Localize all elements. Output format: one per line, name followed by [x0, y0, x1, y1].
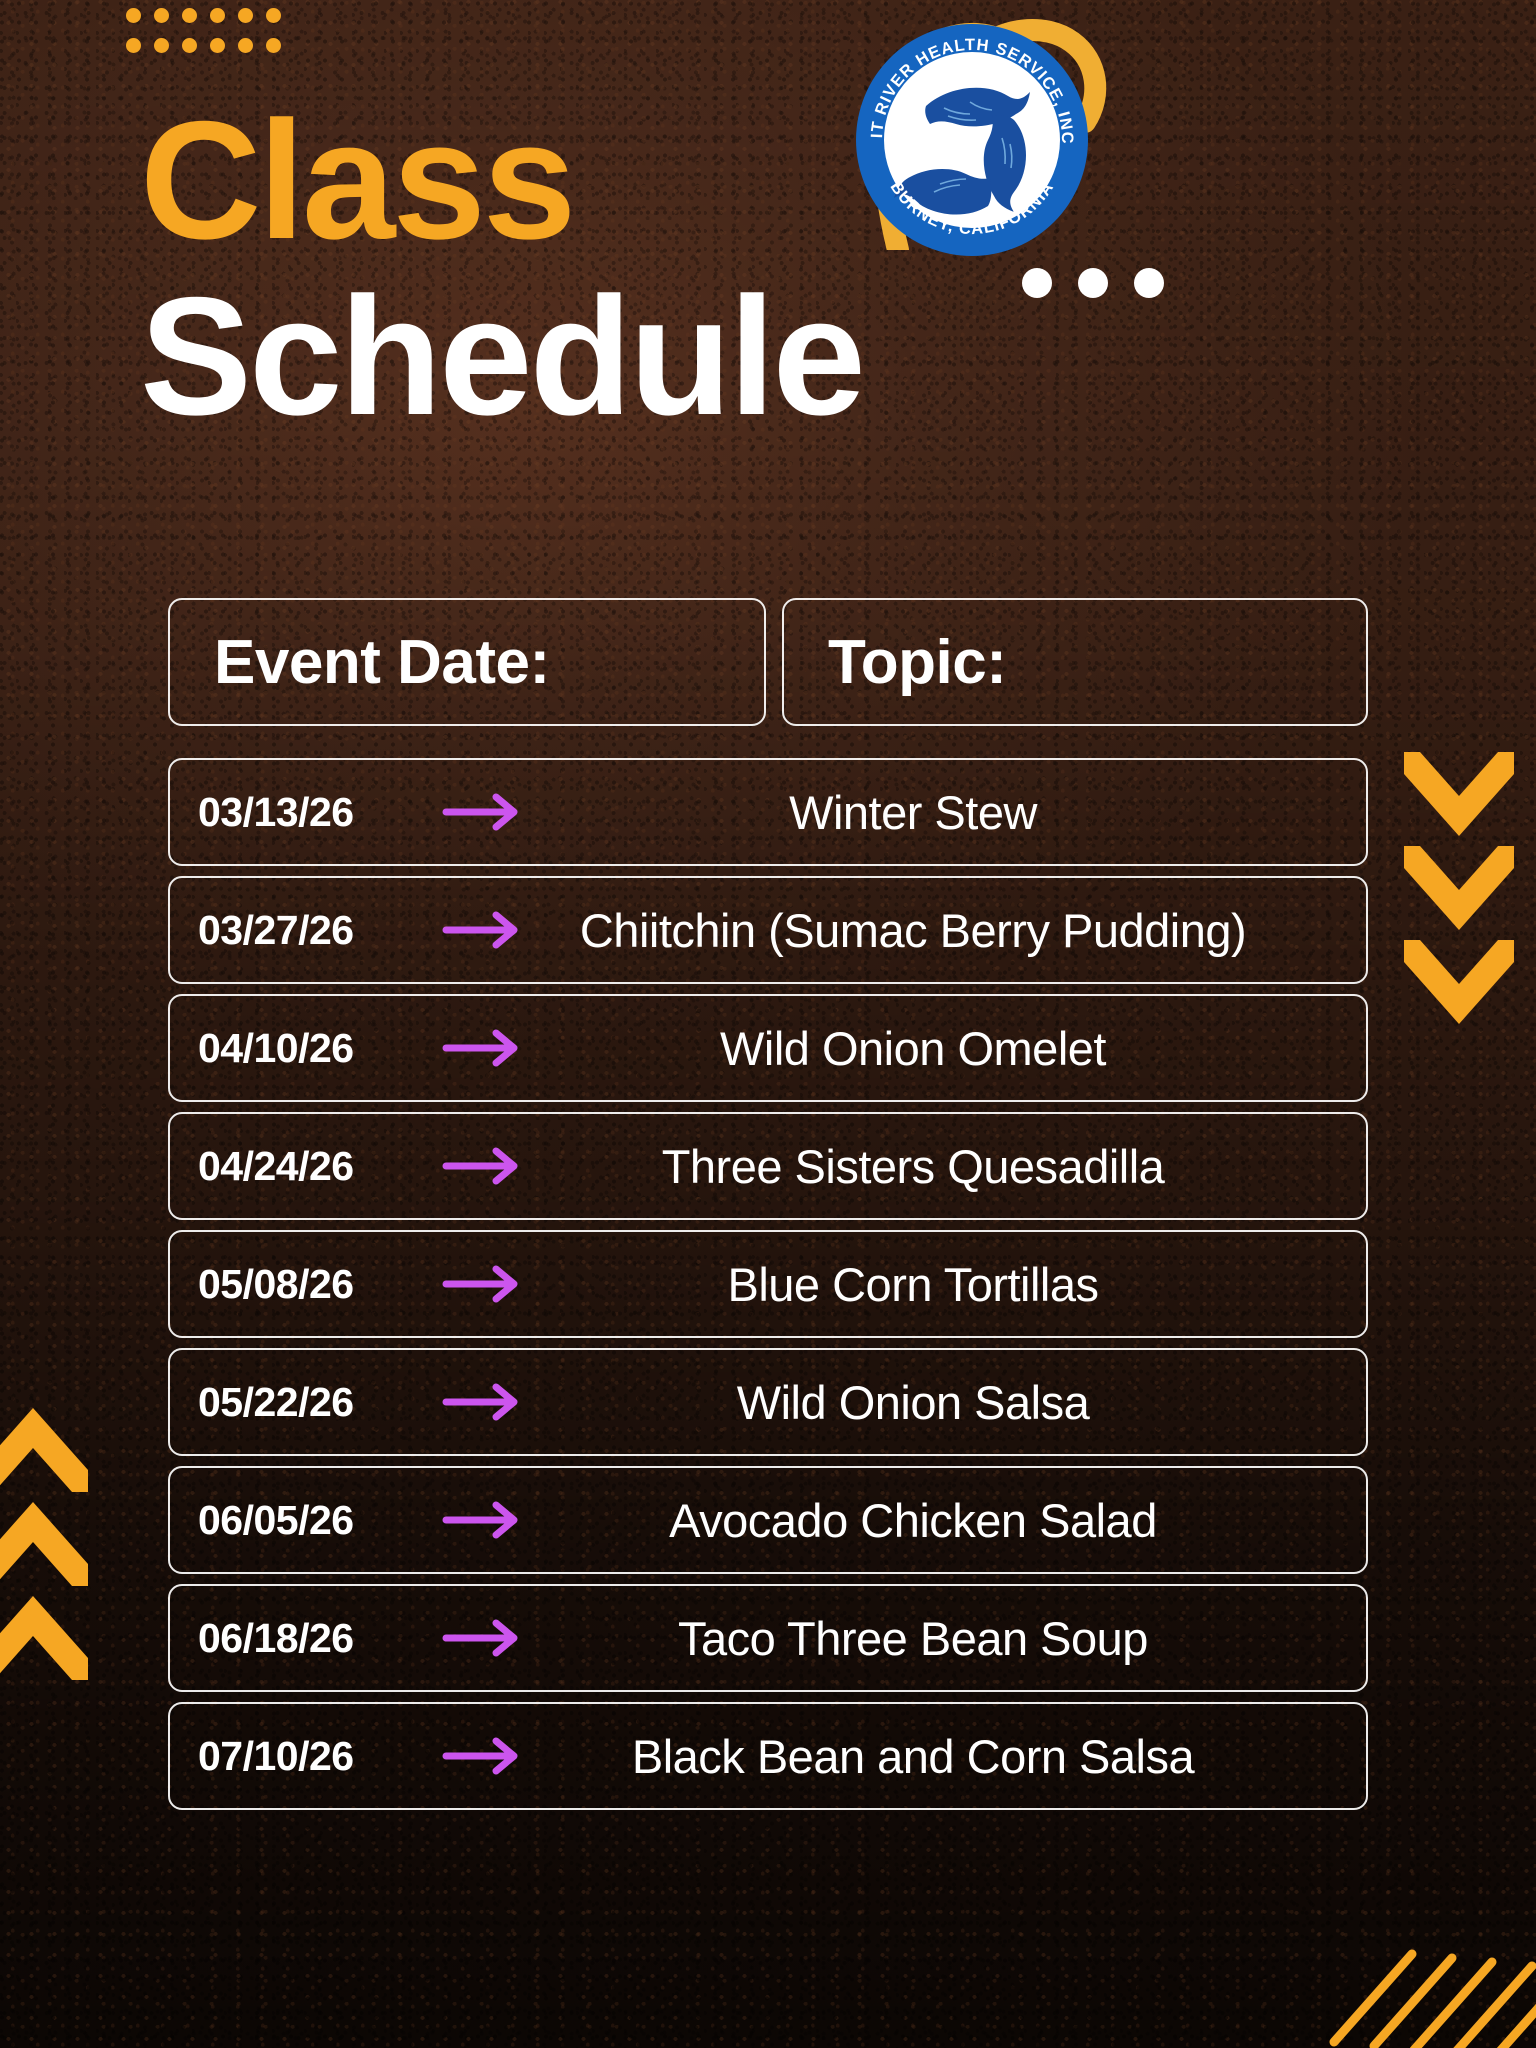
row-topic: Wild Onion Omelet	[528, 1021, 1338, 1076]
chevron-down-icon	[1404, 940, 1514, 1024]
row-event-date: 03/27/26	[198, 907, 438, 954]
table-body: 03/13/26 Winter Stew 03/27/26 Chiitchin …	[168, 758, 1368, 1810]
row-topic: Winter Stew	[528, 785, 1338, 840]
diagonal-lines-decoration	[1326, 1938, 1536, 2048]
grid-dot	[126, 8, 141, 23]
page-title-line2: Schedule	[140, 272, 863, 440]
grid-dot	[238, 38, 253, 53]
pit-river-health-service-logo: PIT RIVER HEALTH SERVICE, INC. BURNEY, C…	[852, 20, 1092, 260]
grid-dot	[154, 38, 169, 53]
row-event-date: 04/10/26	[198, 1025, 438, 1072]
column-header-topic-label: Topic:	[828, 627, 1006, 698]
dot-grid-decoration	[126, 8, 294, 68]
chevron-down-icon	[1404, 752, 1514, 836]
column-header-topic: Topic:	[782, 598, 1368, 726]
row-event-date: 05/22/26	[198, 1379, 438, 1426]
chevron-up-icon	[0, 1596, 88, 1680]
row-topic: Black Bean and Corn Salsa	[528, 1729, 1338, 1784]
grid-dot	[210, 8, 225, 23]
arrow-right-icon	[442, 1736, 528, 1776]
ellipsis-dots-decoration	[1022, 268, 1164, 298]
row-event-date: 06/18/26	[198, 1615, 438, 1662]
chevron-down-decoration	[1404, 752, 1514, 1024]
poster-canvas: PIT RIVER HEALTH SERVICE, INC. BURNEY, C…	[0, 0, 1536, 2048]
grid-dot	[182, 38, 197, 53]
table-row: 05/22/26 Wild Onion Salsa	[168, 1348, 1368, 1456]
row-topic: Three Sisters Quesadilla	[528, 1139, 1338, 1194]
chevron-down-icon	[1404, 846, 1514, 930]
grid-dot	[266, 8, 281, 23]
table-row: 05/08/26 Blue Corn Tortillas	[168, 1230, 1368, 1338]
arrow-right-icon	[442, 1028, 528, 1068]
arrow-right-icon	[442, 1264, 528, 1304]
row-event-date: 03/13/26	[198, 789, 438, 836]
arrow-right-icon	[442, 1500, 528, 1540]
arrow-right-icon	[442, 910, 528, 950]
chevron-up-decoration	[0, 1408, 88, 1680]
column-header-event-date-label: Event Date:	[214, 627, 550, 698]
row-topic: Wild Onion Salsa	[528, 1375, 1338, 1430]
table-row: 04/24/26 Three Sisters Quesadilla	[168, 1112, 1368, 1220]
arrow-right-icon	[442, 1618, 528, 1658]
table-row: 03/13/26 Winter Stew	[168, 758, 1368, 866]
page-title-line1: Class	[140, 96, 573, 264]
arrow-right-icon	[442, 792, 528, 832]
row-event-date: 06/05/26	[198, 1497, 438, 1544]
table-row: 07/10/26 Black Bean and Corn Salsa	[168, 1702, 1368, 1810]
column-header-event-date: Event Date:	[168, 598, 766, 726]
ellipsis-dot	[1022, 268, 1052, 298]
row-topic: Chiitchin (Sumac Berry Pudding)	[528, 903, 1338, 958]
chevron-up-icon	[0, 1502, 88, 1586]
row-topic: Avocado Chicken Salad	[528, 1493, 1338, 1548]
grid-dot	[210, 38, 225, 53]
table-row: 03/27/26 Chiitchin (Sumac Berry Pudding)	[168, 876, 1368, 984]
row-event-date: 04/24/26	[198, 1143, 438, 1190]
table-row: 06/05/26 Avocado Chicken Salad	[168, 1466, 1368, 1574]
ellipsis-dot	[1078, 268, 1108, 298]
table-header-row: Event Date: Topic:	[168, 598, 1368, 726]
grid-dot	[126, 38, 141, 53]
grid-dot	[182, 8, 197, 23]
class-schedule-table: Event Date: Topic: 03/13/26 Winter Stew …	[168, 598, 1368, 1820]
table-row: 06/18/26 Taco Three Bean Soup	[168, 1584, 1368, 1692]
arrow-right-icon	[442, 1382, 528, 1422]
row-event-date: 07/10/26	[198, 1733, 438, 1780]
ellipsis-dot	[1134, 268, 1164, 298]
arrow-right-icon	[442, 1146, 528, 1186]
grid-dot	[154, 8, 169, 23]
grid-dot	[266, 38, 281, 53]
table-row: 04/10/26 Wild Onion Omelet	[168, 994, 1368, 1102]
row-event-date: 05/08/26	[198, 1261, 438, 1308]
grid-dot	[238, 8, 253, 23]
chevron-up-icon	[0, 1408, 88, 1492]
row-topic: Taco Three Bean Soup	[528, 1611, 1338, 1666]
row-topic: Blue Corn Tortillas	[528, 1257, 1338, 1312]
